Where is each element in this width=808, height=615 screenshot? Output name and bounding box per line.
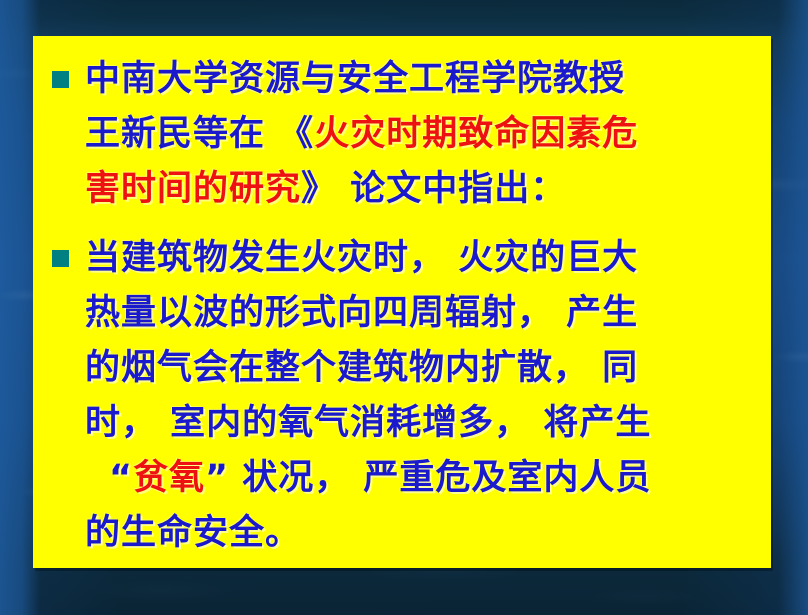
text-segment: 的生命安全。 <box>85 513 301 553</box>
bullet-2-line-6: 的生命安全。 <box>85 506 763 561</box>
text-segment: 中南大学资源与安全工程学院教授 <box>85 59 625 99</box>
text-segment-highlight: 害时间的研究 <box>85 169 301 209</box>
bullet-2-line-2: 热量以波的形式向四周辐射， 产生 <box>85 286 763 341</box>
text-segment-highlight: 火灾时期致命因素危 <box>314 114 638 154</box>
text-segment: 的烟气会在整个建筑物内扩散， 同 <box>85 348 638 388</box>
bullet-1-line-2: 王新民等在 《火灾时期致命因素危 <box>85 107 763 162</box>
bullet-2-line-3: 的烟气会在整个建筑物内扩散， 同 <box>85 341 763 396</box>
text-segment-highlight: 贫氧 <box>133 458 205 498</box>
text-segment: 》 论文中指出： <box>301 169 566 209</box>
square-bullet-icon <box>52 250 69 267</box>
bullet-1-line-3: 害时间的研究》 论文中指出： <box>85 162 763 217</box>
text-segment: 热量以波的形式向四周辐射， 产生 <box>85 293 638 333</box>
text-segment: ” 状况， 严重危及室内人员 <box>205 458 651 498</box>
text-segment: “ <box>109 458 133 498</box>
square-bullet-icon <box>52 71 69 88</box>
presentation-slide: 中南大学资源与安全工程学院教授 王新民等在 《火灾时期致命因素危 害时间的研究》… <box>0 0 808 615</box>
bullet-item-2: 当建筑物发生火灾时， 火灾的巨大 热量以波的形式向四周辐射， 产生 的烟气会在整… <box>43 231 763 561</box>
content-panel-inner: 中南大学资源与安全工程学院教授 王新民等在 《火灾时期致命因素危 害时间的研究》… <box>43 52 763 564</box>
text-segment: 当建筑物发生火灾时， 火灾的巨大 <box>85 238 638 278</box>
bullet-1-line-1: 中南大学资源与安全工程学院教授 <box>85 52 763 107</box>
text-segment: 时， 室内的氧气消耗增多， 将产生 <box>85 403 651 443</box>
bullet-2-line-4: 时， 室内的氧气消耗增多， 将产生 <box>85 396 763 451</box>
content-panel: 中南大学资源与安全工程学院教授 王新民等在 《火灾时期致命因素危 害时间的研究》… <box>33 36 771 568</box>
bullet-item-1: 中南大学资源与安全工程学院教授 王新民等在 《火灾时期致命因素危 害时间的研究》… <box>43 52 763 217</box>
bullet-2-line-5: “贫氧” 状况， 严重危及室内人员 <box>85 451 763 506</box>
bullet-2-line-1: 当建筑物发生火灾时， 火灾的巨大 <box>85 231 763 286</box>
text-segment: 王新民等在 《 <box>85 114 314 154</box>
